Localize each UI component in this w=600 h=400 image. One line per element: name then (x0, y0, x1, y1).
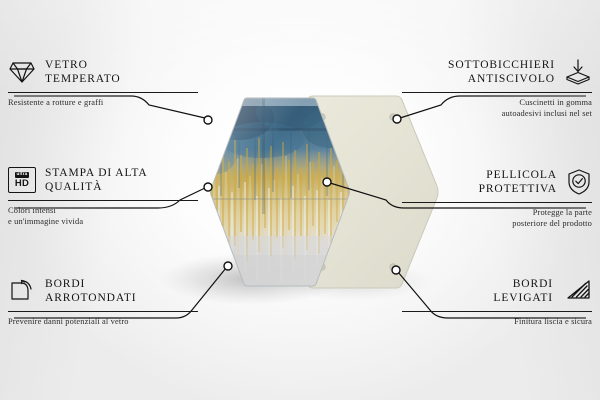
rounded-corner-icon (8, 278, 36, 304)
feature-title-line1: STAMPA DI ALTA (45, 166, 148, 180)
badge-top-label: ultra (15, 172, 30, 178)
connector-dot (204, 116, 212, 124)
feature-subtitle-line1: Finitura liscia e sicura (402, 316, 592, 327)
feature-subtitle-line2: autoadesivi inclusi nel set (402, 108, 592, 119)
diamond-icon (8, 59, 36, 85)
feature-rule (402, 202, 592, 203)
feature-rule (402, 92, 592, 93)
feature-title-line2: ANTISCIVOLO (448, 72, 555, 86)
feature-subtitle-line1: Colori intensi (8, 205, 198, 216)
feature-title-line2: LEVIGATI (493, 291, 553, 305)
feature-subtitle-line2: e un'immagine vivida (8, 216, 198, 227)
connector-dot (224, 262, 232, 270)
feature-bordi-levigati: BORDI LEVIGATI Finitura liscia e sicura (402, 274, 592, 327)
badge-bottom-label: HD (15, 179, 29, 189)
feature-title-line2: PROTETTIVA (479, 182, 557, 196)
feature-subtitle: Resistente a rotture e graffi (8, 97, 198, 108)
feature-title-line2: QUALITÀ (45, 180, 148, 194)
feature-title: STAMPA DI ALTA QUALITÀ (45, 166, 148, 195)
feature-subtitle-line1: Cuscinetti in gomma (402, 97, 592, 108)
coaster-pad-icon (564, 58, 592, 86)
feature-rule (402, 311, 592, 312)
feature-title: SOTTOBICCHIERI ANTISCIVOLO (448, 58, 555, 87)
feature-subtitle-line1: Resistente a rotture e graffi (8, 97, 198, 108)
feature-subtitle: Colori intensi e un'immagine vivida (8, 205, 198, 228)
feature-title: VETRO TEMPERATO (45, 58, 121, 87)
feature-sottobicchieri-antiscivolo: SOTTOBICCHIERI ANTISCIVOLO Cuscinetti in… (402, 55, 592, 120)
feature-pellicola-protettiva: PELLICOLA PROTETTIVA Protegge la parte p… (402, 165, 592, 230)
feature-title-line1: BORDI (45, 277, 136, 291)
feature-title-line1: PELLICOLA (479, 168, 557, 182)
feature-rule (8, 92, 198, 93)
feature-title-line1: BORDI (493, 277, 553, 291)
feature-title: BORDI ARROTONDATI (45, 277, 136, 306)
feature-rule (8, 311, 198, 312)
connector-dot (392, 266, 400, 274)
feature-header: SOTTOBICCHIERI ANTISCIVOLO (402, 55, 592, 89)
feature-subtitle: Prevenire danni potenziali al vetro (8, 316, 198, 327)
feature-bordi-arrotondati: BORDI ARROTONDATI Prevenire danni potenz… (8, 274, 198, 327)
feature-subtitle: Protegge la parte posteriore del prodott… (402, 207, 592, 230)
feature-title: PELLICOLA PROTETTIVA (479, 168, 557, 197)
feature-subtitle-line1: Protegge la parte (402, 207, 592, 218)
connector-dot (393, 115, 401, 123)
feature-rule (8, 200, 198, 201)
feature-header: BORDI ARROTONDATI (8, 274, 198, 308)
connector-dot (323, 178, 331, 186)
feature-stampa-alta-qualita: ultra HD STAMPA DI ALTA QUALITÀ Colori i… (8, 163, 198, 228)
feature-title-line2: ARROTONDATI (45, 291, 136, 305)
feature-subtitle-line1: Prevenire danni potenziali al vetro (8, 316, 198, 327)
feature-subtitle: Finitura liscia e sicura (402, 316, 592, 327)
shield-check-icon (566, 168, 592, 196)
feature-title-line2: TEMPERATO (45, 72, 121, 86)
connector-dot (204, 183, 212, 191)
polished-edge-icon (562, 278, 592, 304)
infographic-canvas: VETRO TEMPERATO Resistente a rotture e g… (0, 0, 600, 400)
feature-title-line1: SOTTOBICCHIERI (448, 58, 555, 72)
feature-header: ultra HD STAMPA DI ALTA QUALITÀ (8, 163, 198, 197)
feature-header: VETRO TEMPERATO (8, 55, 198, 89)
feature-title: BORDI LEVIGATI (493, 277, 553, 306)
feature-subtitle: Cuscinetti in gomma autoadesivi inclusi … (402, 97, 592, 120)
feature-header: BORDI LEVIGATI (402, 274, 592, 308)
feature-vetro-temperato: VETRO TEMPERATO Resistente a rotture e g… (8, 55, 198, 108)
feature-header: PELLICOLA PROTETTIVA (402, 165, 592, 199)
ultra-hd-badge-icon: ultra HD (8, 167, 36, 193)
feature-title-line1: VETRO (45, 58, 121, 72)
feature-subtitle-line2: posteriore del prodotto (402, 218, 592, 229)
